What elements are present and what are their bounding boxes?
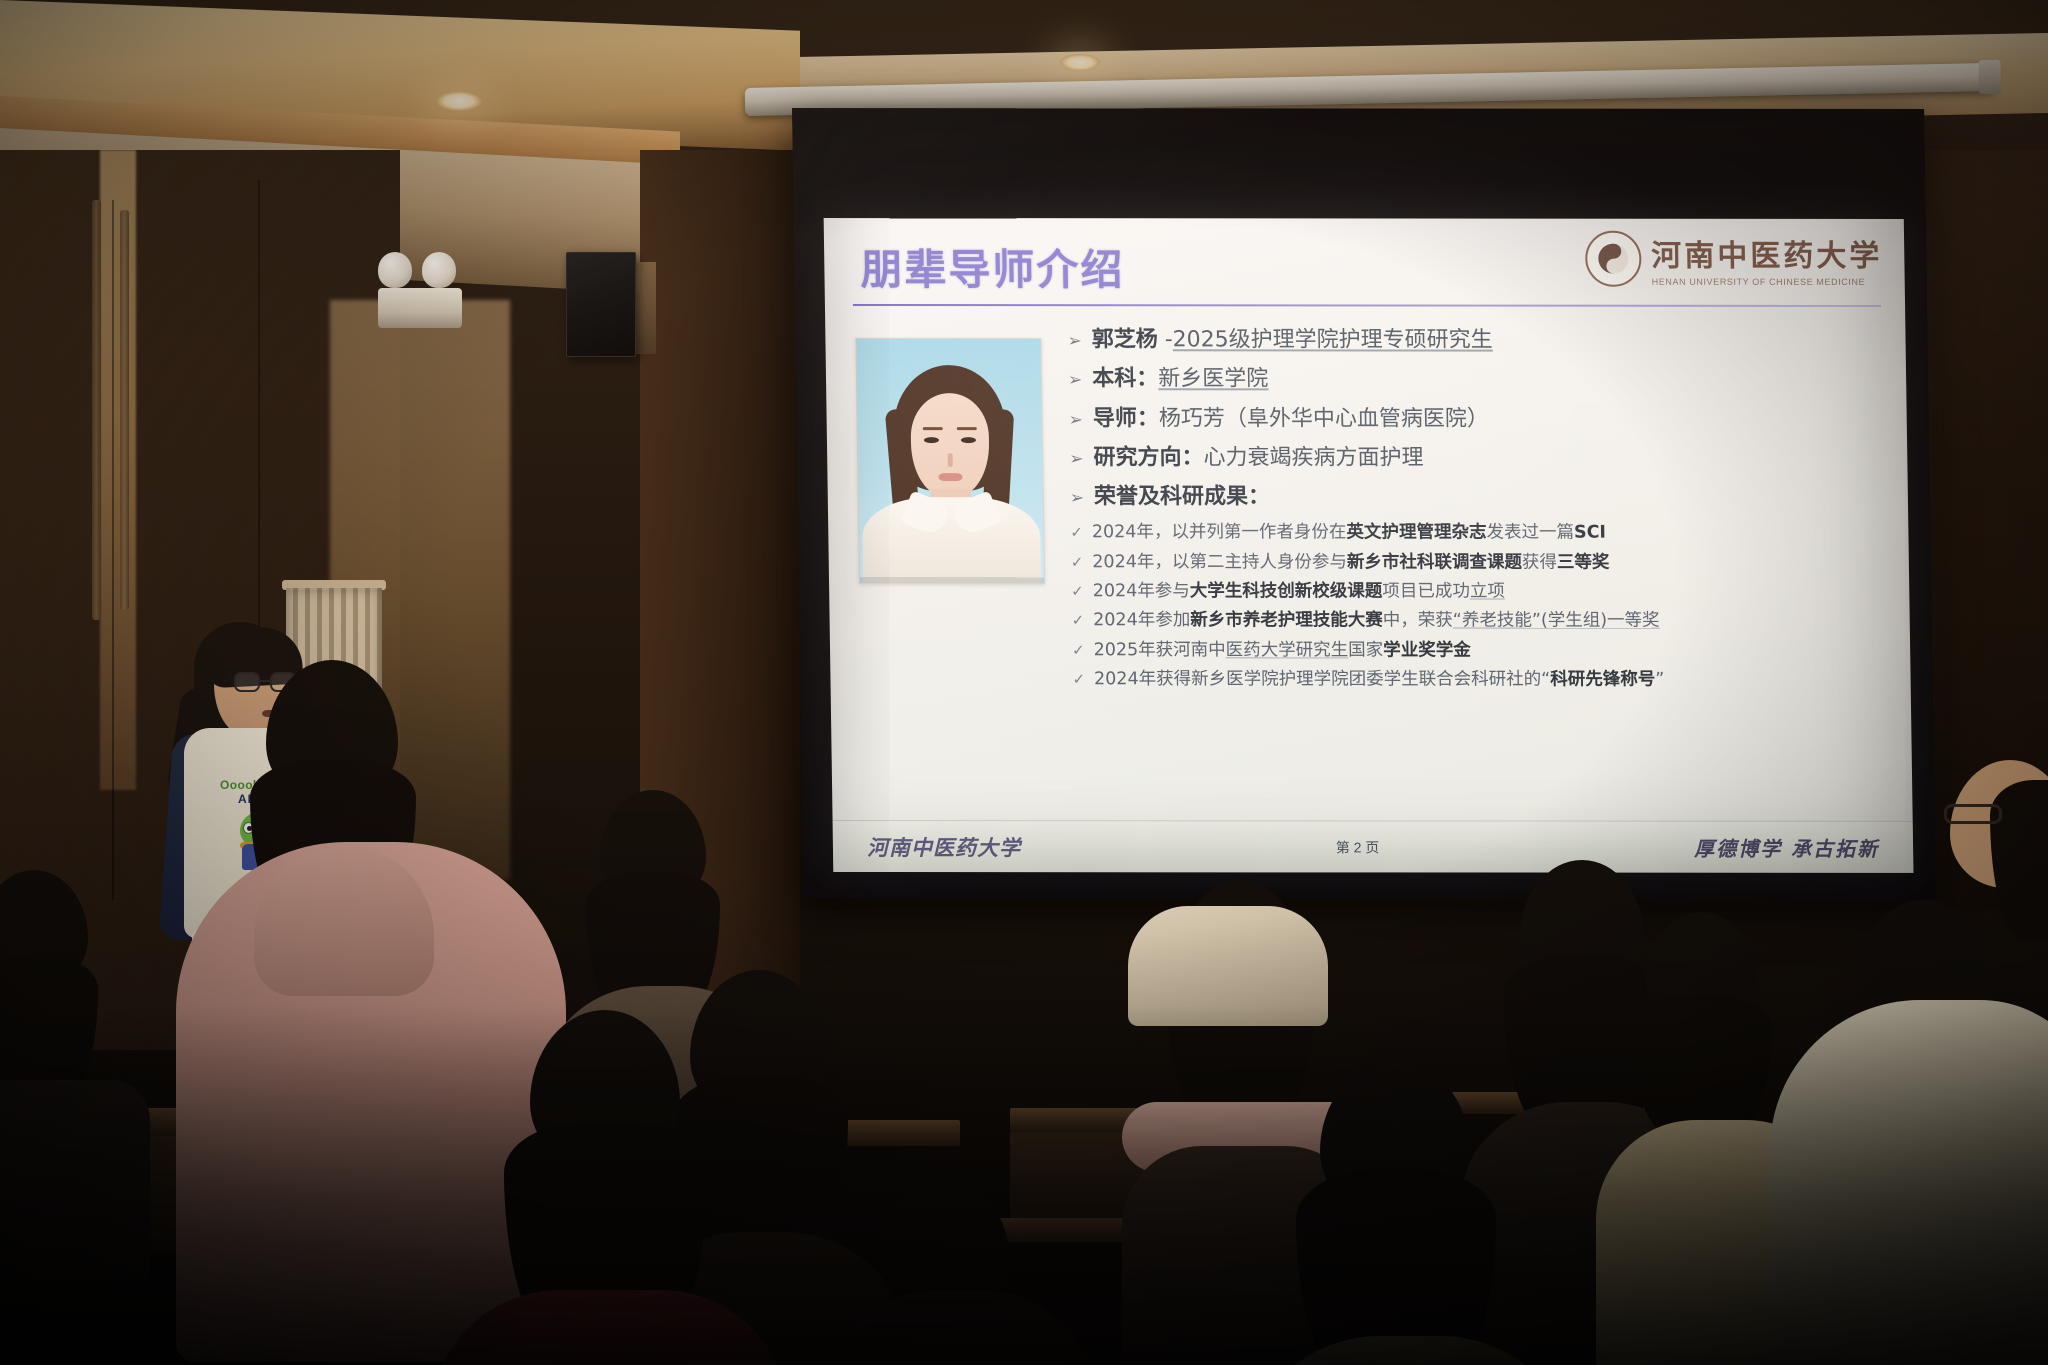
bullet-arrow-icon: ➢ (1067, 331, 1082, 352)
audience-shoulder (1128, 906, 1328, 1026)
bullet-arrow-icon: ➢ (1069, 449, 1084, 470)
photo-shadow (860, 577, 1044, 583)
wall-pipe (120, 210, 129, 610)
ceiling-downlight-icon (1060, 54, 1100, 71)
slide-title: 朋辈导师介绍 (860, 236, 1125, 297)
achievement-item: ✓2024年，以并列第一作者身份在英文护理管理杂志发表过一篇SCI (1070, 523, 1882, 545)
achievement-text: 2024年，以并列第一作者身份在英文护理管理杂志发表过一篇SCI (1092, 523, 1606, 545)
emergency-light-head (422, 252, 456, 288)
wall-light-strip (100, 150, 136, 790)
achievement-text: 2025年获河南中医药大学研究生国家学业奖学金 (1094, 640, 1471, 662)
wall-seam (112, 200, 114, 900)
achievement-text: 2024年获得新乡医学院护理学院团委学生联合会科研社的“科研先锋称号” (1094, 669, 1665, 691)
photo-face (910, 393, 990, 497)
bullet-arrow-icon: ➢ (1068, 370, 1083, 391)
title-divider (853, 304, 1881, 307)
photo-nose (948, 453, 953, 467)
yin-yang-icon (1598, 244, 1628, 274)
bullet-item: ➢导师：杨巧芳（阜外华中心血管病医院） (1068, 405, 1881, 433)
footer-university-name: 河南中医药大学 (867, 831, 1021, 861)
glasses-icon (1944, 804, 2002, 824)
audience-body (1770, 1000, 2048, 1365)
bullet-text: 研究方向：心力衰竭疾病方面护理 (1093, 444, 1423, 472)
photo-shirt (862, 497, 1041, 583)
achievement-item: ✓2024年，以第二主持人身份参与新乡市社科联调查课题获得三等奖 (1071, 552, 1883, 574)
primary-bullets: ➢郭芝杨 -2025级护理学院护理专硕研究生➢本科：新乡医学院➢导师：杨巧芳（阜… (1067, 326, 1882, 511)
bullet-item: ➢研究方向：心力衰竭疾病方面护理 (1069, 444, 1882, 472)
emergency-light-head (378, 252, 412, 288)
bullet-list: ➢郭芝杨 -2025级护理学院护理专硕研究生➢本科：新乡医学院➢导师：杨巧芳（阜… (1067, 322, 1885, 699)
slide-header: 朋辈导师介绍 河南中医药大学 HENAN UNIVERSITY OF CHINE… (824, 218, 1906, 315)
glasses-lens (234, 672, 260, 692)
glasses-bridge (260, 680, 270, 682)
photo-eyebrow (957, 427, 977, 430)
logo-name-cn: 河南中医药大学 (1651, 231, 1883, 275)
slide-body: ➢郭芝杨 -2025级护理学院护理专硕研究生➢本科：新乡医学院➢导师：杨巧芳（阜… (825, 314, 1911, 699)
photo-eye (924, 437, 939, 443)
wall-pipe (92, 200, 101, 620)
presentation-slide: 朋辈导师介绍 河南中医药大学 HENAN UNIVERSITY OF CHINE… (824, 218, 1914, 873)
slide-footer: 河南中医药大学 第 2 页 厚德博学 承古拓新 (833, 820, 1914, 873)
portrait-photo (855, 338, 1045, 584)
check-icon: ✓ (1072, 670, 1085, 688)
bullet-item: ➢本科：新乡医学院 (1068, 365, 1881, 393)
roller-endcap (1978, 60, 2001, 94)
achievement-item: ✓2025年获河南中医药大学研究生国家学业奖学金 (1072, 640, 1884, 662)
bullet-text: 荣誉及科研成果： (1094, 483, 1270, 510)
bullet-arrow-icon: ➢ (1069, 410, 1084, 431)
bullet-item: ➢荣誉及科研成果： (1070, 483, 1883, 511)
ceiling-downlight-icon (436, 91, 482, 111)
achievement-text: 2024年参与大学生科技创新校级课题项目已成功立项 (1093, 581, 1505, 603)
photo-eyebrow (923, 427, 943, 430)
check-icon: ✓ (1072, 612, 1085, 630)
photo-eye (961, 437, 976, 443)
check-icon: ✓ (1071, 553, 1084, 571)
achievement-list: ✓2024年，以并列第一作者身份在英文护理管理杂志发表过一篇SCI✓2024年，… (1070, 523, 1885, 692)
audience-body (0, 1080, 150, 1280)
bullet-text: 导师：杨巧芳（阜外华中心血管病医院） (1093, 405, 1489, 433)
projection-screen: 朋辈导师介绍 河南中医药大学 HENAN UNIVERSITY OF CHINE… (792, 108, 1936, 899)
lecture-hall-scene: 朋辈导师介绍 河南中医药大学 HENAN UNIVERSITY OF CHINE… (0, 0, 2048, 1365)
emergency-light-body (378, 288, 462, 328)
bullet-text: 郭芝杨 -2025级护理学院护理专硕研究生 (1092, 326, 1493, 354)
achievement-item: ✓2024年参加新乡市养老护理技能大赛中，荣获“养老技能”(学生组)一等奖 (1071, 611, 1883, 633)
check-icon: ✓ (1072, 641, 1085, 659)
emergency-light-icon (372, 250, 468, 330)
check-icon: ✓ (1070, 524, 1083, 542)
wall-speaker-icon (566, 252, 636, 357)
bullet-arrow-icon: ➢ (1070, 488, 1085, 509)
photo-mouth (938, 473, 962, 481)
yin-yang-seal-icon (1585, 231, 1642, 287)
logo-name-en: HENAN UNIVERSITY OF CHINESE MEDICINE (1652, 277, 1883, 287)
bullet-item: ➢郭芝杨 -2025级护理学院护理专硕研究生 (1067, 326, 1880, 354)
achievement-text: 2024年参加新乡市养老护理技能大赛中，荣获“养老技能”(学生组)一等奖 (1093, 611, 1660, 633)
slide-page-number: 第 2 页 (1336, 837, 1380, 857)
check-icon: ✓ (1071, 582, 1084, 600)
achievement-item: ✓2024年获得新乡医学院护理学院团委学生联合会科研社的“科研先锋称号” (1072, 669, 1884, 691)
audience-hair (1630, 996, 1772, 1136)
bullet-text: 本科：新乡医学院 (1092, 365, 1268, 392)
achievement-item: ✓2024年参与大学生科技创新校级课题项目已成功立项 (1071, 581, 1883, 603)
footer-motto: 厚德博学 承古拓新 (1694, 833, 1879, 862)
university-logo: 河南中医药大学 HENAN UNIVERSITY OF CHINESE MEDI… (1585, 231, 1883, 287)
achievement-text: 2024年，以第二主持人身份参与新乡市社科联调查课题获得三等奖 (1092, 552, 1609, 574)
